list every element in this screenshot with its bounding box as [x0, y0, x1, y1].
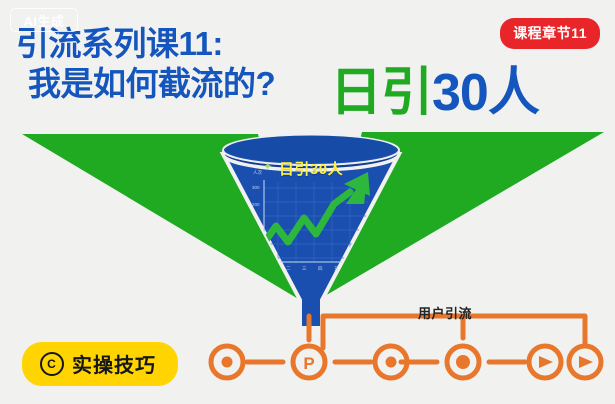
sparkle-icon: ✦ — [263, 160, 272, 173]
user-flow-diagram: P — [205, 296, 615, 391]
svg-text:四: 四 — [318, 266, 323, 271]
flow-node-target-dot-icon-3[interactable] — [447, 346, 479, 378]
flow-label: 用户引流 — [418, 303, 472, 322]
svg-text:人次: 人次 — [253, 169, 262, 176]
svg-text:P: P — [303, 354, 314, 373]
page-title-line-2: 我是如何截流的? — [28, 64, 275, 104]
ai-watermark: AI生成 — [10, 8, 78, 32]
headline: 日引30人 — [330, 64, 539, 122]
svg-text:200: 200 — [252, 202, 260, 207]
svg-text:二: 二 — [286, 266, 291, 271]
headline-green-part: 日引 — [330, 64, 432, 122]
flow-node-play-arrow-icon-2[interactable] — [569, 346, 601, 378]
svg-text:300: 300 — [252, 185, 260, 190]
flow-node-pin-p-icon[interactable]: P — [293, 346, 325, 378]
chapter-badge[interactable]: 课程章节11 — [500, 18, 600, 49]
poster-root: AI生成 引流系列课11: 我是如何截流的? 日引30人 课程章节11 — [0, 0, 615, 404]
practice-badge[interactable]: C 实操技巧 — [22, 342, 178, 386]
svg-text:一: 一 — [270, 266, 275, 271]
flow-node-target-dot-icon[interactable] — [211, 346, 243, 378]
headline-blue-part: 30人 — [432, 64, 539, 122]
title-block: 引流系列课11: 我是如何截流的? — [16, 24, 275, 104]
svg-text:六: 六 — [350, 265, 355, 272]
copyright-icon: C — [40, 352, 64, 376]
flow-node-play-arrow-icon[interactable] — [529, 346, 561, 378]
svg-text:三: 三 — [302, 266, 307, 271]
practice-badge-label: 实操技巧 — [72, 349, 156, 378]
